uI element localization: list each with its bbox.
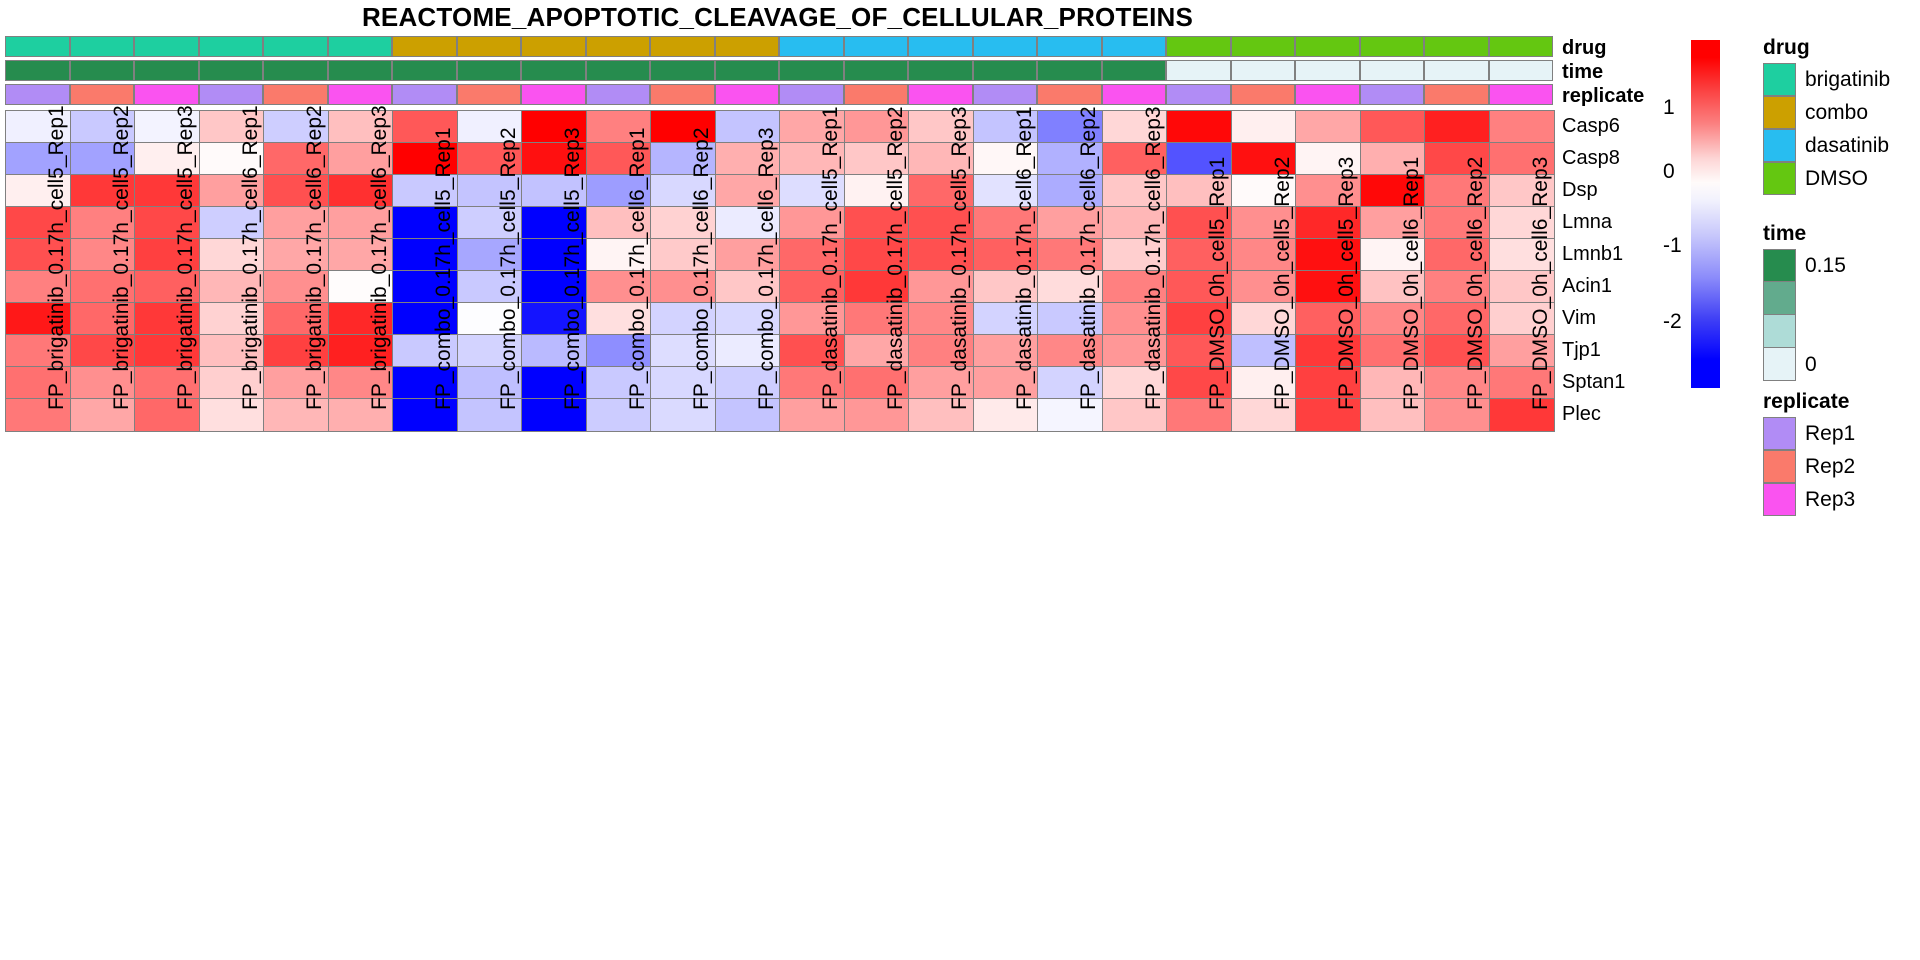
column-label-wrap: FP_brigatinib_0.17h_cell6_Rep2	[263, 404, 328, 824]
column-label: FP_brigatinib_0.17h_cell6_Rep1	[239, 105, 263, 410]
annotation-cell	[844, 36, 909, 57]
annotation-cell	[1037, 84, 1102, 105]
column-label: FP_dasatinib_0.17h_cell5_Rep2	[884, 106, 908, 410]
column-label-wrap: FP_dasatinib_0.17h_cell6_Rep1	[973, 404, 1038, 824]
legend-replicate-item-swatch[interactable]	[1763, 450, 1796, 483]
colorbar-tick: -1	[1663, 234, 1682, 258]
annotation-cell	[521, 60, 586, 81]
legend-time-swatches	[1763, 249, 1796, 381]
legend-replicate: replicate Rep1Rep2Rep3	[1763, 390, 1855, 516]
annotation-cell	[1102, 60, 1167, 81]
annotation-cell	[392, 60, 457, 81]
column-label: FP_brigatinib_0.17h_cell5_Rep1	[45, 105, 69, 410]
heatmap-matrix	[5, 110, 1555, 432]
legend-time: time 0.150	[1763, 222, 1846, 381]
heatmap-cell	[1232, 111, 1297, 143]
annotation-cell	[1360, 36, 1425, 57]
annotation-cell	[908, 84, 973, 105]
legend-time-label: 0.15	[1805, 249, 1846, 282]
annotation-cell	[779, 60, 844, 81]
column-label-wrap: FP_DMSO_0h_cell5_Rep2	[1231, 404, 1296, 824]
column-label: FP_combo_0.17h_cell5_Rep2	[497, 127, 521, 410]
column-label: FP_brigatinib_0.17h_cell5_Rep2	[110, 105, 134, 410]
column-label: FP_combo_0.17h_cell6_Rep3	[755, 127, 779, 410]
annotation-cell	[328, 84, 393, 105]
annotation-cell	[1037, 36, 1102, 57]
annotation-cell	[586, 36, 651, 57]
annotation-cell	[199, 60, 264, 81]
annotation-cell	[199, 36, 264, 57]
column-label-wrap: FP_dasatinib_0.17h_cell6_Rep2	[1037, 404, 1102, 824]
annotation-cell	[779, 36, 844, 57]
legend-time-title: time	[1763, 222, 1846, 246]
heatmap-cell	[1490, 111, 1555, 143]
legend-replicate-items: Rep1Rep2Rep3	[1763, 417, 1855, 516]
annotation-cell	[70, 36, 135, 57]
column-label-wrap: FP_brigatinib_0.17h_cell6_Rep3	[328, 404, 393, 824]
row-label: Plec	[1562, 398, 1712, 430]
column-label: FP_dasatinib_0.17h_cell6_Rep3	[1142, 106, 1166, 410]
legend-time-swatch[interactable]	[1763, 348, 1796, 381]
legend-replicate-item-label: Rep2	[1805, 450, 1855, 483]
annotation-cell	[263, 36, 328, 57]
column-label-wrap: FP_brigatinib_0.17h_cell6_Rep1	[199, 404, 264, 824]
column-label-wrap: FP_brigatinib_0.17h_cell5_Rep2	[70, 404, 135, 824]
annotation-cell	[1424, 60, 1489, 81]
column-label-wrap: FP_DMSO_0h_cell6_Rep1	[1360, 404, 1425, 824]
annotation-cell	[779, 84, 844, 105]
legend-time-items: 0.150	[1763, 249, 1846, 381]
column-label: FP_DMSO_0h_cell6_Rep1	[1400, 157, 1424, 410]
annotation-cell	[1295, 60, 1360, 81]
legend-drug-item-swatch[interactable]	[1763, 96, 1796, 129]
column-label-wrap: FP_combo_0.17h_cell5_Rep3	[521, 404, 586, 824]
column-label: FP_dasatinib_0.17h_cell6_Rep1	[1013, 106, 1037, 410]
annotation-cell	[715, 60, 780, 81]
heatmap-cell	[1361, 111, 1426, 143]
annotation-cell	[5, 84, 70, 105]
column-label: FP_combo_0.17h_cell6_Rep2	[690, 127, 714, 410]
annotation-cell	[5, 36, 70, 57]
column-label: FP_DMSO_0h_cell5_Rep2	[1271, 157, 1295, 410]
annotation-cell	[650, 84, 715, 105]
row-label: Casp8	[1562, 142, 1712, 174]
annotation-cell	[1166, 36, 1231, 57]
column-label: FP_DMSO_0h_cell6_Rep3	[1529, 157, 1553, 410]
column-label-wrap: FP_dasatinib_0.17h_cell6_Rep3	[1102, 404, 1167, 824]
annotation-cell	[70, 84, 135, 105]
annotation-cell	[1166, 84, 1231, 105]
legend-drug-item-swatch[interactable]	[1763, 129, 1796, 162]
column-label-wrap: FP_combo_0.17h_cell6_Rep3	[715, 404, 780, 824]
legend-drug-item-swatch[interactable]	[1763, 63, 1796, 96]
row-label: Casp6	[1562, 110, 1712, 142]
legend-replicate-item-swatch[interactable]	[1763, 483, 1796, 516]
legend-time-label-blank	[1805, 315, 1846, 348]
annotation-cell	[650, 60, 715, 81]
annotation-cell	[134, 36, 199, 57]
annotation-track-replicate	[5, 84, 1555, 105]
annotation-cell	[1102, 84, 1167, 105]
heatmap-plot	[5, 36, 1555, 432]
legend-drug-item-label: DMSO	[1805, 162, 1890, 195]
column-label-wrap: FP_combo_0.17h_cell6_Rep2	[650, 404, 715, 824]
annotation-track-drug	[5, 36, 1555, 57]
row-label: Tjp1	[1562, 334, 1712, 366]
heatmap-cell	[1425, 111, 1490, 143]
column-label: FP_DMSO_0h_cell6_Rep2	[1464, 157, 1488, 410]
annotation-track-label-drug: drug	[1562, 36, 1712, 60]
legend-replicate-swatches	[1763, 417, 1796, 516]
column-label: FP_brigatinib_0.17h_cell6_Rep2	[303, 105, 327, 410]
annotation-cell	[973, 36, 1038, 57]
annotation-cell	[1489, 84, 1554, 105]
annotation-cell	[521, 84, 586, 105]
legend-replicate-labels: Rep1Rep2Rep3	[1805, 417, 1855, 516]
annotation-cell	[973, 60, 1038, 81]
legend-drug: drug brigatinibcombodasatinibDMSO	[1763, 36, 1890, 195]
row-label: Sptan1	[1562, 366, 1712, 398]
column-label: FP_combo_0.17h_cell5_Rep1	[432, 127, 456, 410]
legend-drug-labels: brigatinibcombodasatinibDMSO	[1805, 63, 1890, 195]
annotation-cell	[844, 60, 909, 81]
annotation-cell	[392, 84, 457, 105]
column-label: FP_DMSO_0h_cell5_Rep1	[1206, 157, 1230, 410]
annotation-cell	[199, 84, 264, 105]
annotation-cell	[328, 36, 393, 57]
legend-drug-item-label: combo	[1805, 96, 1890, 129]
column-label: FP_combo_0.17h_cell6_Rep1	[626, 127, 650, 410]
annotation-cell	[5, 60, 70, 81]
annotation-cell	[844, 84, 909, 105]
annotation-cell	[263, 84, 328, 105]
row-labels: drugtimereplicateCasp6Casp8DspLmnaLmnb1A…	[1562, 36, 1712, 430]
column-label-wrap: FP_dasatinib_0.17h_cell5_Rep2	[844, 404, 909, 824]
column-label: FP_DMSO_0h_cell5_Rep3	[1335, 157, 1359, 410]
row-label: Vim	[1562, 302, 1712, 334]
annotation-cell	[1231, 60, 1296, 81]
legend-time-swatch[interactable]	[1763, 249, 1796, 282]
annotation-cell	[1231, 84, 1296, 105]
column-label-wrap: FP_brigatinib_0.17h_cell5_Rep3	[134, 404, 199, 824]
legend-drug-item-label: brigatinib	[1805, 63, 1890, 96]
legend-time-swatch[interactable]	[1763, 315, 1796, 348]
annotation-cell	[1037, 60, 1102, 81]
annotation-cell	[457, 36, 522, 57]
annotation-cell	[650, 36, 715, 57]
annotation-cell	[521, 36, 586, 57]
legend-drug-swatches	[1763, 63, 1796, 195]
row-label: Acin1	[1562, 270, 1712, 302]
column-label-wrap: FP_brigatinib_0.17h_cell5_Rep1	[5, 404, 70, 824]
column-label-wrap: FP_DMSO_0h_cell6_Rep3	[1489, 404, 1554, 824]
annotation-cell	[1295, 84, 1360, 105]
annotation-cell	[392, 36, 457, 57]
annotation-cell	[715, 84, 780, 105]
row-label: Lmnb1	[1562, 238, 1712, 270]
annotation-cell	[457, 84, 522, 105]
legend-replicate-item-label: Rep1	[1805, 417, 1855, 450]
annotation-cell	[1424, 84, 1489, 105]
column-label-wrap: FP_DMSO_0h_cell5_Rep1	[1166, 404, 1231, 824]
column-label-wrap: FP_combo_0.17h_cell5_Rep1	[392, 404, 457, 824]
annotation-cell	[1360, 84, 1425, 105]
annotation-tracks	[5, 36, 1555, 105]
annotation-cell	[457, 60, 522, 81]
annotation-cell	[715, 36, 780, 57]
legend-drug-title: drug	[1763, 36, 1890, 60]
annotation-cell	[70, 60, 135, 81]
legend-drug-item-swatch[interactable]	[1763, 162, 1796, 195]
colorbar	[1691, 40, 1720, 388]
legend-drug-item-label: dasatinib	[1805, 129, 1890, 162]
legend-time-label-blank	[1805, 282, 1846, 315]
annotation-cell	[908, 36, 973, 57]
column-label: FP_combo_0.17h_cell5_Rep3	[561, 127, 585, 410]
legend-replicate-item-swatch[interactable]	[1763, 417, 1796, 450]
column-label-wrap: FP_DMSO_0h_cell5_Rep3	[1295, 404, 1360, 824]
annotation-cell	[1231, 36, 1296, 57]
annotation-track-time	[5, 60, 1555, 81]
annotation-cell	[586, 60, 651, 81]
annotation-cell	[586, 84, 651, 105]
row-label: Dsp	[1562, 174, 1712, 206]
annotation-cell	[134, 60, 199, 81]
column-label-wrap: FP_dasatinib_0.17h_cell5_Rep1	[779, 404, 844, 824]
annotation-cell	[134, 84, 199, 105]
annotation-cell	[1295, 36, 1360, 57]
column-label-wrap: FP_dasatinib_0.17h_cell5_Rep3	[908, 404, 973, 824]
legend-replicate-title: replicate	[1763, 390, 1855, 414]
annotation-track-label-replicate: replicate	[1562, 84, 1712, 108]
column-label-wrap: FP_combo_0.17h_cell6_Rep1	[586, 404, 651, 824]
annotation-cell	[1360, 60, 1425, 81]
legend-time-labels: 0.150	[1805, 249, 1846, 381]
annotation-cell	[1166, 60, 1231, 81]
column-label: FP_brigatinib_0.17h_cell6_Rep3	[368, 105, 392, 410]
annotation-cell	[908, 60, 973, 81]
annotation-cell	[1489, 36, 1554, 57]
column-label-wrap: FP_DMSO_0h_cell6_Rep2	[1424, 404, 1489, 824]
annotation-cell	[1489, 60, 1554, 81]
heatmap-cell	[1296, 111, 1361, 143]
annotation-track-label-time: time	[1562, 60, 1712, 84]
column-label: FP_dasatinib_0.17h_cell5_Rep1	[819, 106, 843, 410]
row-label: Lmna	[1562, 206, 1712, 238]
column-label: FP_dasatinib_0.17h_cell6_Rep2	[1077, 106, 1101, 410]
heatmap-cell	[1167, 111, 1232, 143]
colorbar-tick: 0	[1663, 160, 1675, 184]
annotation-cell	[1102, 36, 1167, 57]
column-label: FP_brigatinib_0.17h_cell5_Rep3	[174, 105, 198, 410]
legend-drug-items: brigatinibcombodasatinibDMSO	[1763, 63, 1890, 195]
colorbar-tick: -2	[1663, 310, 1682, 334]
column-label-wrap: FP_combo_0.17h_cell5_Rep2	[457, 404, 522, 824]
legend-time-swatch[interactable]	[1763, 282, 1796, 315]
legend-replicate-item-label: Rep3	[1805, 483, 1855, 516]
colorbar-tick: 1	[1663, 96, 1675, 120]
column-label: FP_dasatinib_0.17h_cell5_Rep3	[948, 106, 972, 410]
annotation-cell	[263, 60, 328, 81]
annotation-cell	[1424, 36, 1489, 57]
page-title: REACTOME_APOPTOTIC_CLEAVAGE_OF_CELLULAR_…	[0, 2, 1555, 33]
annotation-cell	[973, 84, 1038, 105]
legend-time-label: 0	[1805, 348, 1846, 381]
annotation-cell	[328, 60, 393, 81]
